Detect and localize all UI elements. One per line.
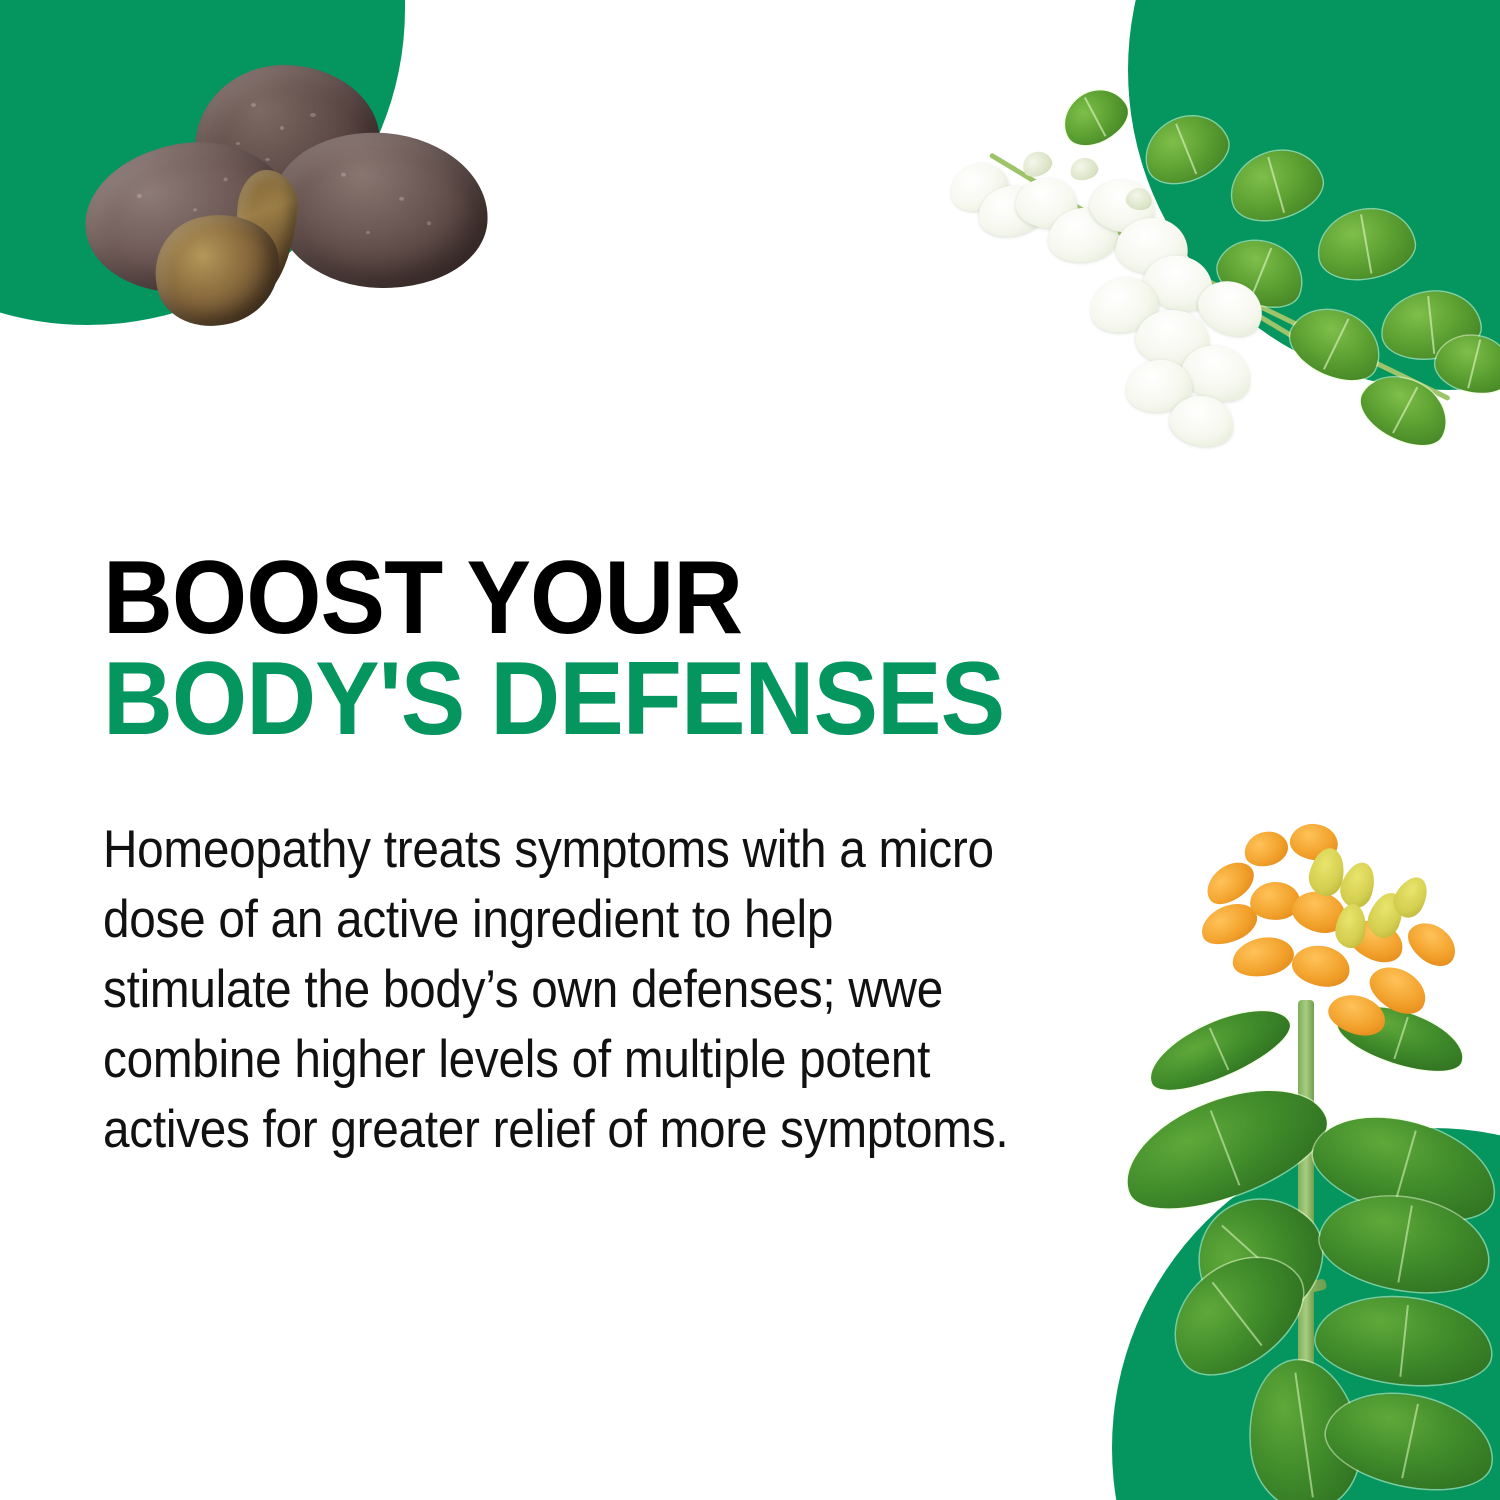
- locust-leaf: [1313, 202, 1419, 286]
- milkweed-floret: [1400, 914, 1463, 974]
- nux-vomica-seeds-image: [85, 65, 485, 335]
- page-title: BOOST YOUR BODY'S DEFENSES: [103, 548, 1154, 750]
- body-paragraph: Homeopathy treats symptoms with a micro …: [103, 815, 1012, 1165]
- locust-flower-image: [930, 60, 1500, 480]
- milkweed-leaf: [1140, 994, 1299, 1104]
- locust-leaf: [1054, 79, 1136, 154]
- milkweed-leaf: [1312, 1289, 1496, 1393]
- headline-line-2: BODY'S DEFENSES: [103, 649, 1154, 750]
- milkweed-floret: [1289, 941, 1353, 990]
- locust-leaf: [1281, 295, 1392, 393]
- butterfly-weed-image: [1140, 800, 1500, 1500]
- locust-leaf: [1135, 105, 1236, 194]
- poster-canvas: BOOST YOUR BODY'S DEFENSES Homeopathy tr…: [0, 0, 1500, 1500]
- headline-line-1: BOOST YOUR: [103, 548, 1154, 649]
- locust-bud: [1068, 155, 1100, 183]
- locust-leaf: [1223, 141, 1330, 230]
- milkweed-floret: [1229, 932, 1298, 982]
